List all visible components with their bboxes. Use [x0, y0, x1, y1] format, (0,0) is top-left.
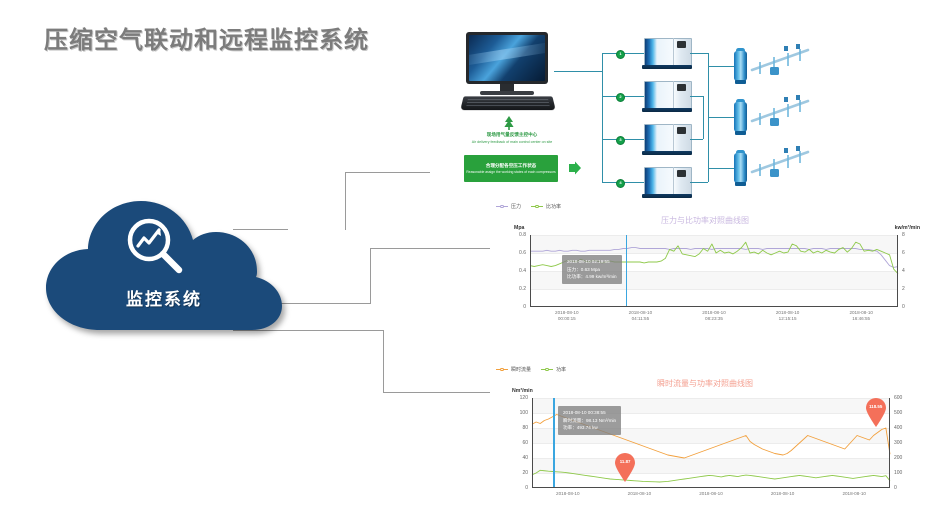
legend-marker-specific-power — [531, 204, 543, 210]
wire-left-bus — [602, 53, 603, 182]
axis-tick-label: 2 — [898, 286, 920, 292]
pressure-y-axis-unit: Mpa — [514, 225, 524, 231]
node-dot-3: 3 — [616, 136, 625, 145]
wire-to-tank-3 — [708, 168, 734, 169]
connector-line-mid-upper — [370, 248, 490, 249]
pipe-rig-3 — [750, 146, 812, 186]
x-axis-tick-label: 2018-08-10 — [546, 491, 590, 497]
connector-line-bottom-lower — [383, 392, 496, 393]
x-axis-tick-label: 2018-08-1000:00:15 — [545, 310, 589, 322]
system-diagram-panel: 现场用气量反馈主控中心 Air delivery feedback of mai… — [446, 22, 944, 200]
connector-line-mid-vertical — [370, 248, 371, 304]
pipe-rig-2 — [750, 95, 812, 135]
control-center-label-en: Air delivery feedback of main control ce… — [472, 140, 553, 144]
monitor-stand-base — [480, 91, 534, 95]
wire-out-3 — [690, 139, 703, 140]
legend-label-specific-power: 比功率 — [546, 203, 561, 210]
flow-chart-tooltip: 2018-08-10 00:38:55 瞬时流量：98.13 Nm³/min 功… — [558, 406, 621, 435]
legend-item-power[interactable]: 功率 — [541, 366, 566, 373]
wire-out-4 — [690, 182, 708, 183]
pressure-y2-axis-unit: kw/m³/min — [895, 225, 920, 231]
pressure-chart-title: 压力与比功率对照曲线图 — [490, 215, 920, 226]
axis-tick-label: 100 — [890, 470, 920, 476]
cloud-label: 监控系统 — [42, 285, 286, 310]
tooltip-timestamp: 2018-08-10 00:38:55 — [563, 409, 616, 417]
x-axis-tick-label: 2018-08-10 — [761, 491, 805, 497]
x-axis-tick-label: 2018-08-1016:46:55 — [839, 310, 883, 322]
node-dot-1: 1 — [616, 50, 625, 59]
axis-tick-label: 40 — [490, 455, 528, 461]
legend-item-specific-power[interactable]: 比功率 — [531, 203, 561, 210]
axis-tick-label: 0.6 — [490, 250, 526, 256]
assign-status-cn: 合理分配各空压工作状态 — [464, 163, 558, 169]
axis-tick-label: 8 — [898, 232, 920, 238]
axis-tick-label: 4 — [898, 268, 920, 274]
pressure-chart-cursor[interactable] — [626, 235, 627, 307]
axis-tick-label: 120 — [490, 395, 528, 401]
legend-label-power: 功率 — [556, 366, 566, 373]
x-axis-tick-label: 2018-08-10 — [617, 491, 661, 497]
x-axis-tick-label: 2018-08-1004:11:55 — [618, 310, 662, 322]
node-dot-2: 2 — [616, 93, 625, 102]
x-axis-tick-label: 2018-08-10 — [689, 491, 733, 497]
wire-out-1 — [690, 53, 708, 54]
pressure-chart-legend: 压力 比功率 — [496, 203, 561, 210]
flow-y-axis — [532, 398, 533, 488]
legend-item-pressure[interactable]: 压力 — [496, 203, 521, 210]
pressure-chart-tooltip: 2018-08-10 02:19:55 压力：0.63 Mpa 比功率：4.99… — [562, 255, 622, 284]
compressor-unit-1 — [644, 38, 690, 70]
legend-marker-pressure — [496, 204, 508, 210]
desktop-monitor-icon — [466, 32, 548, 84]
page-title: 压缩空气联动和远程监控系统 — [44, 20, 369, 55]
axis-tick-label: 6 — [898, 250, 920, 256]
x-axis-tick-label: 2018-08-1012:15:15 — [766, 310, 810, 322]
map-pin-icon — [865, 398, 887, 427]
flow-chart-title: 瞬时流量与功率对照曲线图 — [490, 378, 920, 389]
x-axis-tick-label: 2018-08-1008:23:35 — [692, 310, 736, 322]
magnifier-chart-icon — [122, 216, 190, 278]
axis-tick-label: 100 — [490, 410, 528, 416]
connector-line-bottom-vertical — [383, 330, 384, 392]
axis-tick-label: 20 — [490, 470, 528, 476]
wire-right-bus-inner — [703, 96, 704, 139]
axis-tick-label: 200 — [890, 455, 920, 461]
pressure-y-axis — [530, 235, 531, 307]
flow-chart-cursor[interactable] — [553, 398, 554, 488]
tooltip-power: 功率：493.74 kw — [563, 424, 616, 432]
legend-marker-power — [541, 367, 553, 373]
tooltip-flow: 瞬时流量：98.13 Nm³/min — [563, 417, 616, 425]
connector-line-top-vertical — [345, 172, 346, 230]
legend-label-flow: 瞬时流量 — [511, 366, 531, 373]
flow-x-axis — [532, 487, 890, 488]
pipe-rig-1 — [750, 44, 812, 84]
pressure-chart-panel: 压力 比功率 压力与比功率对照曲线图 Mpa kw/m³/min 2018-08… — [490, 203, 920, 333]
tree-icon — [504, 116, 514, 130]
wire-to-tank-1 — [708, 66, 734, 67]
marker-value-label: 11.87 — [614, 459, 636, 464]
pressure-x-axis — [530, 306, 898, 307]
flow-chart-legend: 瞬时流量 功率 — [496, 366, 566, 373]
axis-tick-label: 500 — [890, 410, 920, 416]
air-tank-3 — [734, 150, 747, 186]
axis-tick-label: 300 — [890, 440, 920, 446]
wire-out-2 — [690, 96, 703, 97]
axis-tick-label: 0.4 — [490, 268, 526, 274]
legend-marker-flow — [496, 367, 508, 373]
axis-tick-label: 0 — [898, 304, 920, 310]
control-center-label: 现场用气量反馈主控中心 Air delivery feedback of mai… — [460, 132, 564, 145]
axis-tick-label: 400 — [890, 425, 920, 431]
flow-y-axis-unit: Nm³/min — [512, 388, 533, 394]
assign-status-en: Reasonable assign the working states of … — [464, 170, 558, 175]
assign-status-box: 合理分配各空压工作状态 Reasonable assign the workin… — [464, 155, 558, 182]
air-tank-2 — [734, 99, 747, 135]
marker-value-label: 118.55 — [865, 404, 887, 409]
axis-tick-label: 0.2 — [490, 286, 526, 292]
axis-tick-label: 0.8 — [490, 232, 526, 238]
axis-tick-label: 60 — [490, 440, 528, 446]
axis-tick-label: 600 — [890, 395, 920, 401]
axis-tick-label: 0 — [490, 304, 526, 310]
tooltip-pressure: 压力：0.63 Mpa — [567, 266, 617, 274]
wire-to-tank-2 — [708, 117, 734, 118]
node-dot-4: 4 — [616, 179, 625, 188]
control-center-label-cn: 现场用气量反馈主控中心 — [460, 132, 564, 139]
tooltip-specific-power: 比功率：4.99 kw/m³/min — [567, 273, 617, 281]
wire-monitor-to-bus — [554, 71, 602, 72]
air-tank-1 — [734, 48, 747, 84]
keyboard-icon — [460, 96, 555, 110]
presentation-slide: 压缩空气联动和远程监控系统 监控系统 现场用气量反馈主控中心 — [0, 0, 945, 529]
map-pin-icon — [614, 453, 636, 482]
compressor-unit-2 — [644, 81, 690, 113]
x-axis-tick-label: 2018-08-10 — [832, 491, 876, 497]
axis-tick-label: 0 — [490, 485, 528, 491]
flow-chart-panel: 瞬时流量 功率 瞬时流量与功率对照曲线图 Nm³/min 11.87118 — [490, 366, 920, 516]
compressor-unit-4 — [644, 167, 690, 199]
legend-item-flow[interactable]: 瞬时流量 — [496, 366, 531, 373]
right-arrow-icon — [568, 161, 582, 175]
legend-label-pressure: 压力 — [511, 203, 521, 210]
axis-tick-label: 0 — [890, 485, 920, 491]
tooltip-timestamp: 2018-08-10 02:19:55 — [567, 258, 617, 266]
connector-line-top-upper — [345, 172, 430, 173]
compressor-unit-3 — [644, 124, 690, 156]
axis-tick-label: 80 — [490, 425, 528, 431]
